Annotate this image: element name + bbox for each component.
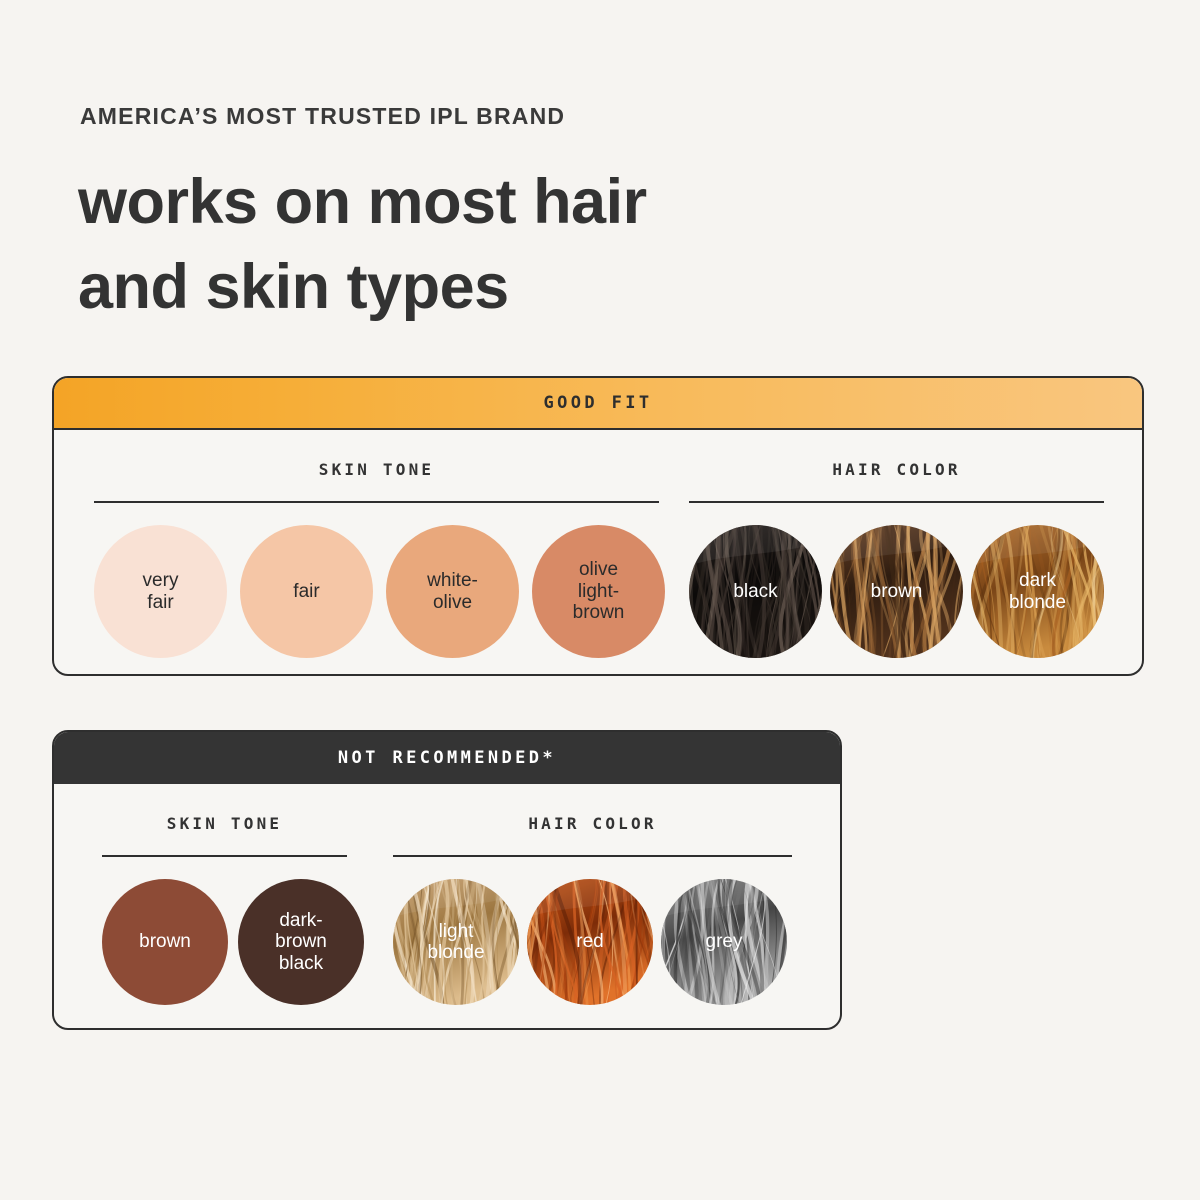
eyebrow-text: AMERICA’S MOST TRUSTED IPL BRAND: [80, 103, 565, 130]
not-recommended-card: NOT RECOMMENDED* SKIN TONE browndark- br…: [52, 730, 842, 1030]
swatch-label: white- olive: [427, 570, 478, 613]
not-recommended-banner: NOT RECOMMENDED*: [54, 732, 840, 784]
good-fit-skin-divider: [94, 501, 659, 503]
good-fit-banner-label: GOOD FIT: [543, 393, 652, 413]
swatch-label: fair: [293, 581, 319, 602]
swatch-black: black: [689, 525, 822, 658]
swatch-red: red: [527, 879, 653, 1005]
swatch-label: grey: [706, 931, 743, 952]
good-fit-skin-group: SKIN TONE very fairfairwhite- oliveolive…: [94, 430, 659, 676]
not-recommended-hair-title: HAIR COLOR: [393, 814, 792, 833]
swatch-grey: grey: [661, 879, 787, 1005]
not-recommended-body: SKIN TONE browndark- brown black HAIR CO…: [54, 784, 840, 1030]
headline-line-2: and skin types: [78, 245, 647, 330]
good-fit-body: SKIN TONE very fairfairwhite- oliveolive…: [54, 430, 1142, 676]
swatch-white--olive: white- olive: [386, 525, 519, 658]
page-title: works on most hair and skin types: [78, 160, 647, 330]
swatch-label: brown: [871, 581, 923, 602]
swatch-brown: brown: [102, 879, 228, 1005]
good-fit-hair-group: HAIR COLOR blackbrowndark blonde: [689, 430, 1104, 676]
swatch-fair: fair: [240, 525, 373, 658]
swatch-light-blonde: light blonde: [393, 879, 519, 1005]
infographic-page: AMERICA’S MOST TRUSTED IPL BRAND works o…: [0, 0, 1200, 1200]
good-fit-skin-title: SKIN TONE: [94, 460, 659, 479]
good-fit-banner: GOOD FIT: [54, 378, 1142, 430]
swatch-label: dark- brown black: [275, 910, 327, 974]
swatch-very-fair: very fair: [94, 525, 227, 658]
swatch-label: red: [576, 931, 603, 952]
headline-line-1: works on most hair: [78, 167, 647, 237]
good-fit-card: GOOD FIT SKIN TONE very fairfairwhite- o…: [52, 376, 1144, 676]
swatch-label: dark blonde: [1009, 570, 1066, 613]
not-recommended-hair-swatches: light blonderedgrey: [393, 879, 792, 1005]
good-fit-hair-divider: [689, 501, 1104, 503]
swatch-label: olive light- brown: [573, 559, 625, 623]
swatch-dark-blonde: dark blonde: [971, 525, 1104, 658]
not-recommended-skin-swatches: browndark- brown black: [102, 879, 347, 1005]
not-recommended-skin-title: SKIN TONE: [102, 814, 347, 833]
not-recommended-hair-group: HAIR COLOR light blonderedgrey: [393, 784, 792, 1030]
not-recommended-skin-divider: [102, 855, 347, 857]
swatch-olive-light--brown: olive light- brown: [532, 525, 665, 658]
not-recommended-skin-group: SKIN TONE browndark- brown black: [102, 784, 347, 1030]
swatch-label: brown: [139, 931, 191, 952]
swatch-label: light blonde: [427, 921, 484, 964]
swatch-brown: brown: [830, 525, 963, 658]
not-recommended-hair-divider: [393, 855, 792, 857]
good-fit-hair-title: HAIR COLOR: [689, 460, 1104, 479]
not-recommended-banner-label: NOT RECOMMENDED*: [338, 748, 556, 768]
swatch-dark--brown-black: dark- brown black: [238, 879, 364, 1005]
swatch-label: black: [733, 581, 777, 602]
swatch-label: very fair: [143, 570, 179, 613]
good-fit-hair-swatches: blackbrowndark blonde: [689, 525, 1104, 658]
good-fit-skin-swatches: very fairfairwhite- oliveolive light- br…: [94, 525, 659, 658]
